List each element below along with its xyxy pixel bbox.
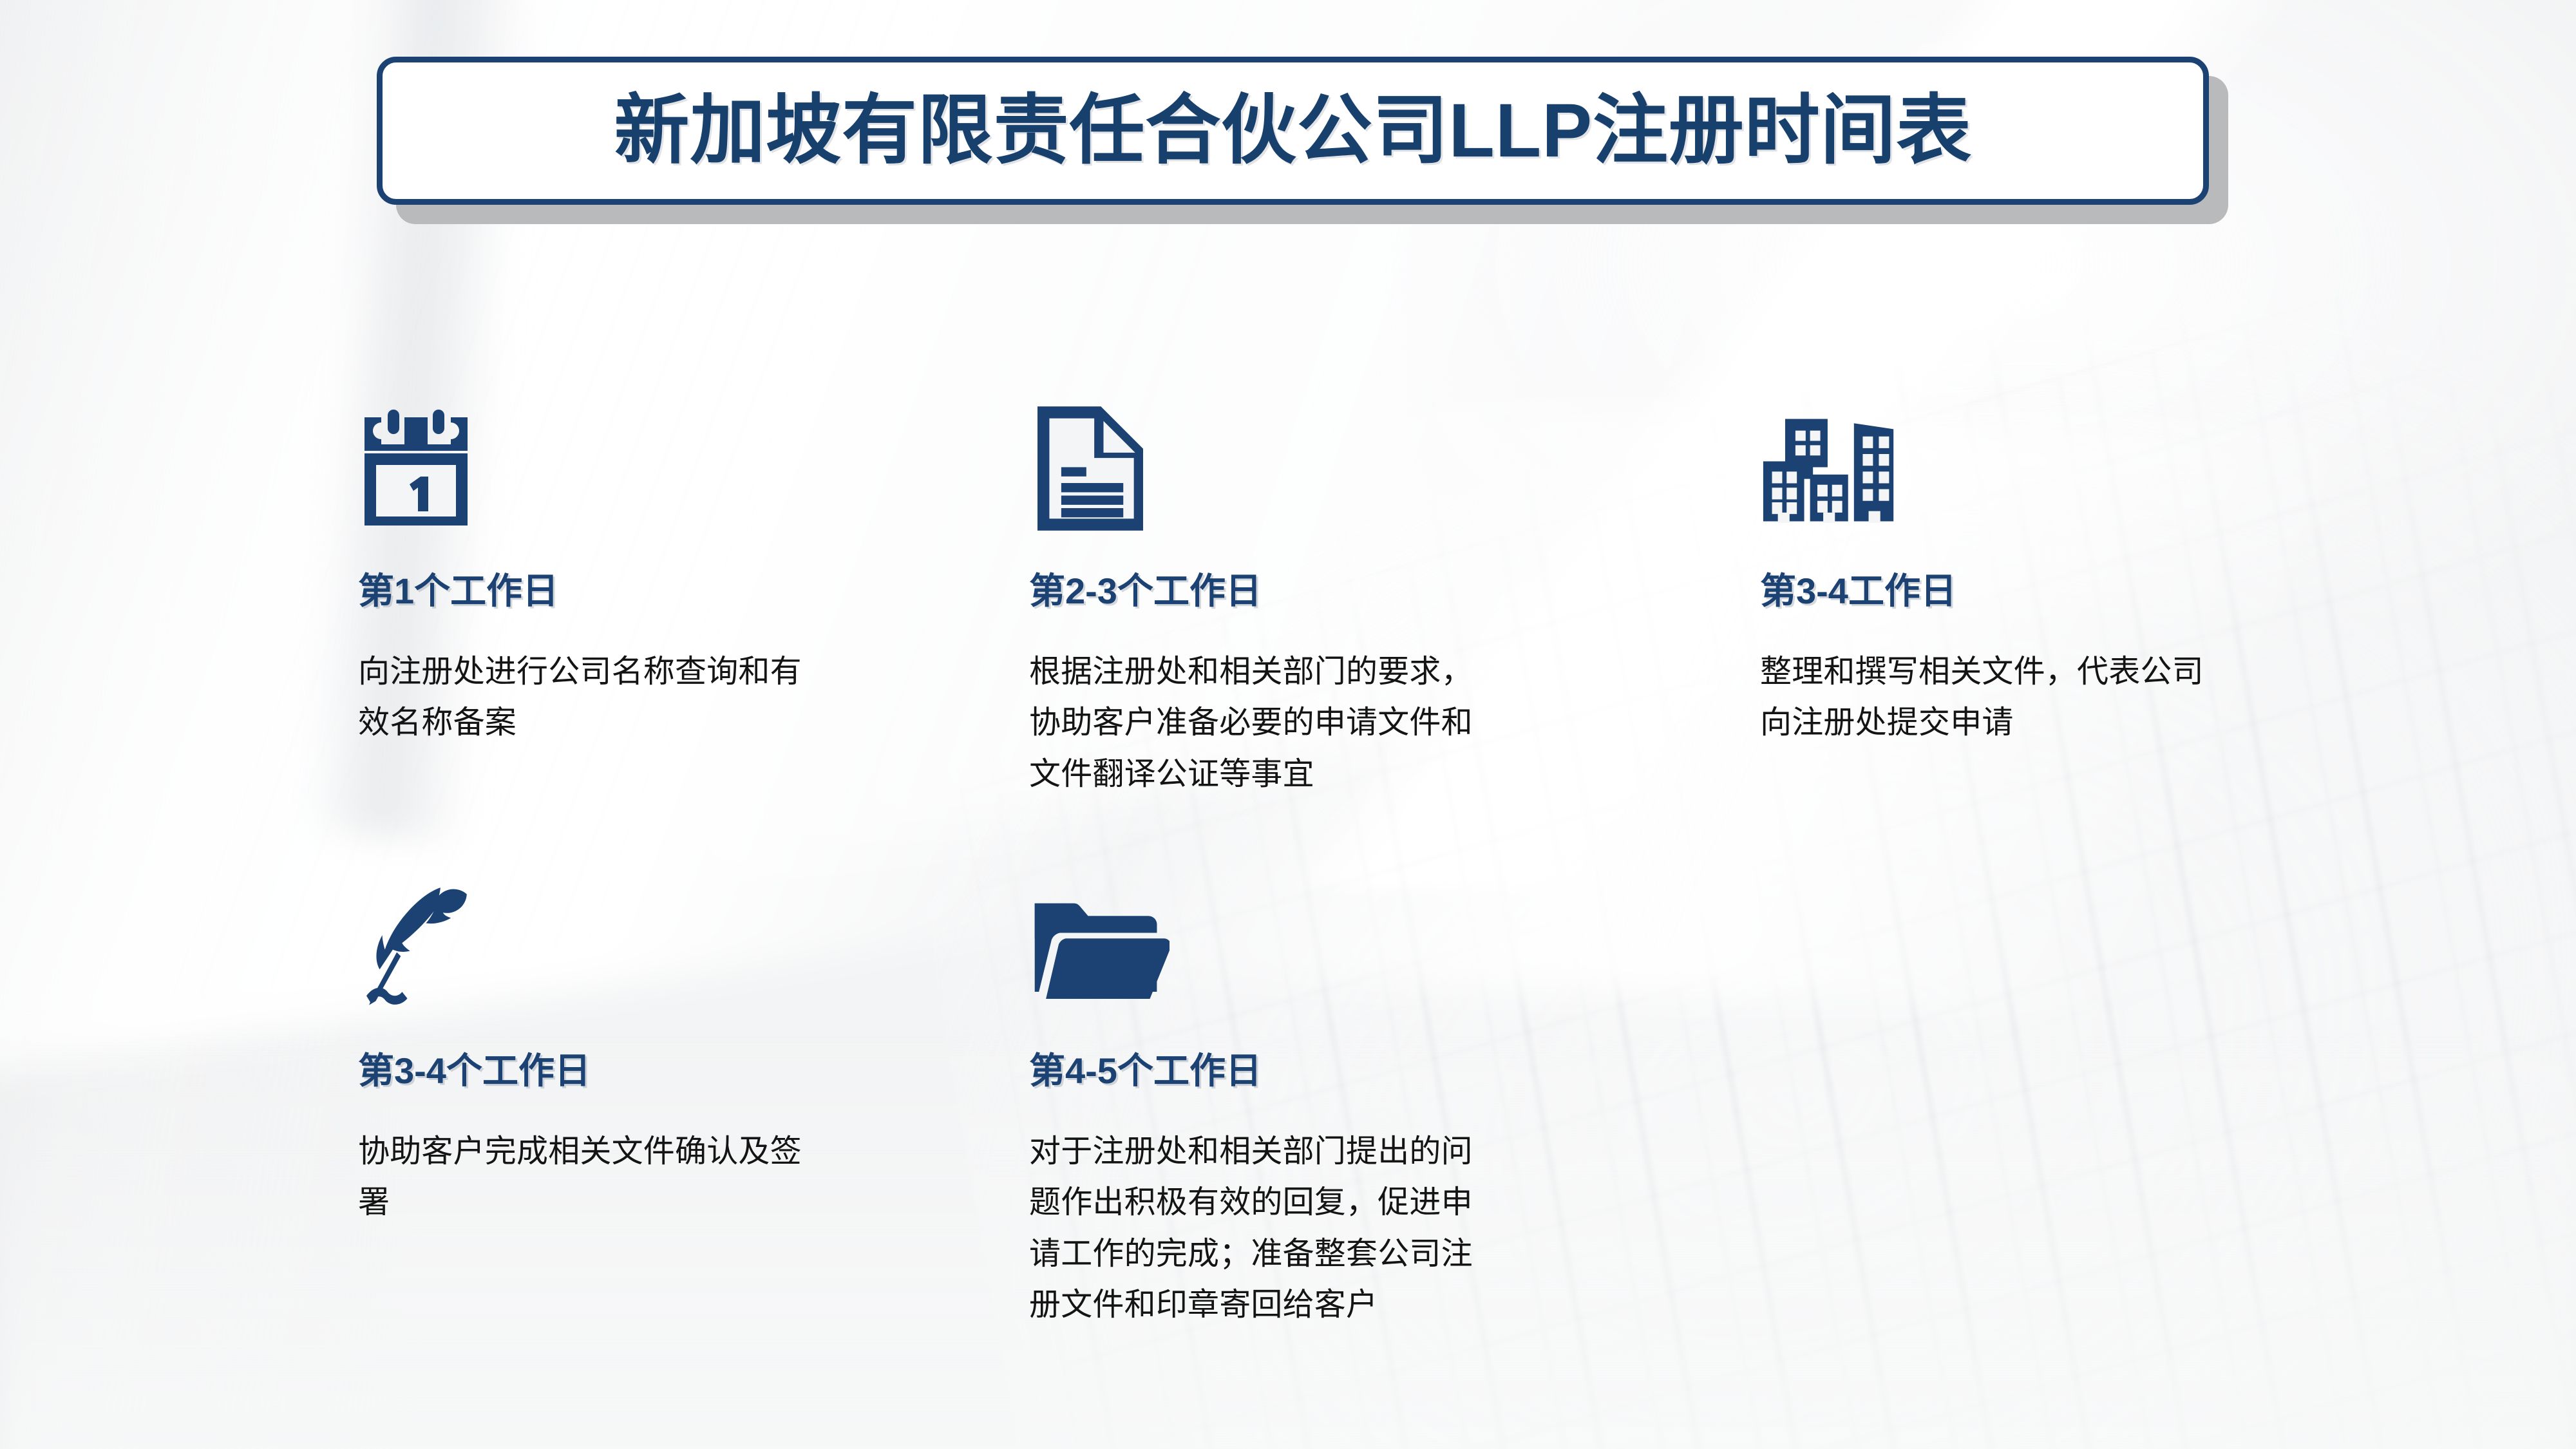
step-3-icon-box [1760,390,2372,538]
step-5-title: 第4-5个工作日 [1029,1052,1609,1090]
step-card-1: 第1个工作日 向注册处进行公司名称查询和有 效名称备案 [358,390,938,749]
step-3-title: 第3-4工作日 [1760,573,2372,611]
step-3-body: 整理和撰写相关文件，代表公司 向注册处提交申请 [1760,647,2372,749]
step-4-icon-box [358,869,938,1018]
step-card-3: 第3-4工作日 整理和撰写相关文件，代表公司 向注册处提交申请 [1760,390,2372,749]
step-4-title: 第3-4个工作日 [358,1052,938,1090]
step-card-4: 第3-4个工作日 协助客户完成相关文件确认及签 署 [358,869,938,1229]
page-title-banner: 新加坡有限责任合伙公司LLP注册时间表 [377,57,2209,205]
step-1-body-line: 向注册处进行公司名称查询和有 [358,647,938,697]
step-5-body: 对于注册处和相关部门提出的问 题作出积极有效的回复，促进申 请工作的完成；准备整… [1029,1126,1609,1331]
feather-quill-icon [358,882,480,1018]
step-5-body-line: 题作出积极有效的回复，促进申 [1029,1177,1609,1228]
step-2-body-line: 文件翻译公证等事宜 [1029,749,1609,800]
step-4-body-line: 协助客户完成相关文件确认及签 [358,1126,938,1177]
step-4-body-line: 署 [358,1177,938,1228]
step-2-icon-box [1029,390,1609,538]
title-banner-box: 新加坡有限责任合伙公司LLP注册时间表 [377,57,2209,205]
step-5-icon-box [1029,869,1609,1018]
step-1-body: 向注册处进行公司名称查询和有 效名称备案 [358,647,938,749]
step-3-body-line: 向注册处提交申请 [1760,697,2372,748]
step-2-title: 第2-3个工作日 [1029,573,1609,611]
step-1-icon-box [358,390,938,538]
step-2-body: 根据注册处和相关部门的要求， 协助客户准备必要的申请文件和 文件翻译公证等事宜 [1029,647,1609,800]
step-1-body-line: 效名称备案 [358,697,938,748]
step-3-body-line: 整理和撰写相关文件，代表公司 [1760,647,2372,697]
step-card-5: 第4-5个工作日 对于注册处和相关部门提出的问 题作出积极有效的回复，促进申 请… [1029,869,1609,1331]
step-4-body: 协助客户完成相关文件确认及签 署 [358,1126,938,1229]
step-5-body-line: 册文件和印章寄回给客户 [1029,1280,1609,1331]
step-2-body-line: 根据注册处和相关部门的要求， [1029,647,1609,697]
page-title: 新加坡有限责任合伙公司LLP注册时间表 [614,93,1972,169]
step-1-title: 第1个工作日 [358,573,938,611]
buildings-icon [1760,406,1907,538]
step-2-body-line: 协助客户准备必要的申请文件和 [1029,697,1609,748]
document-icon [1029,402,1151,538]
step-5-body-line: 请工作的完成；准备整套公司注 [1029,1229,1609,1280]
folder-open-icon [1029,891,1170,1018]
step-5-body-line: 对于注册处和相关部门提出的问 [1029,1126,1609,1177]
step-card-2: 第2-3个工作日 根据注册处和相关部门的要求， 协助客户准备必要的申请文件和 文… [1029,390,1609,800]
calendar-icon [358,406,487,538]
